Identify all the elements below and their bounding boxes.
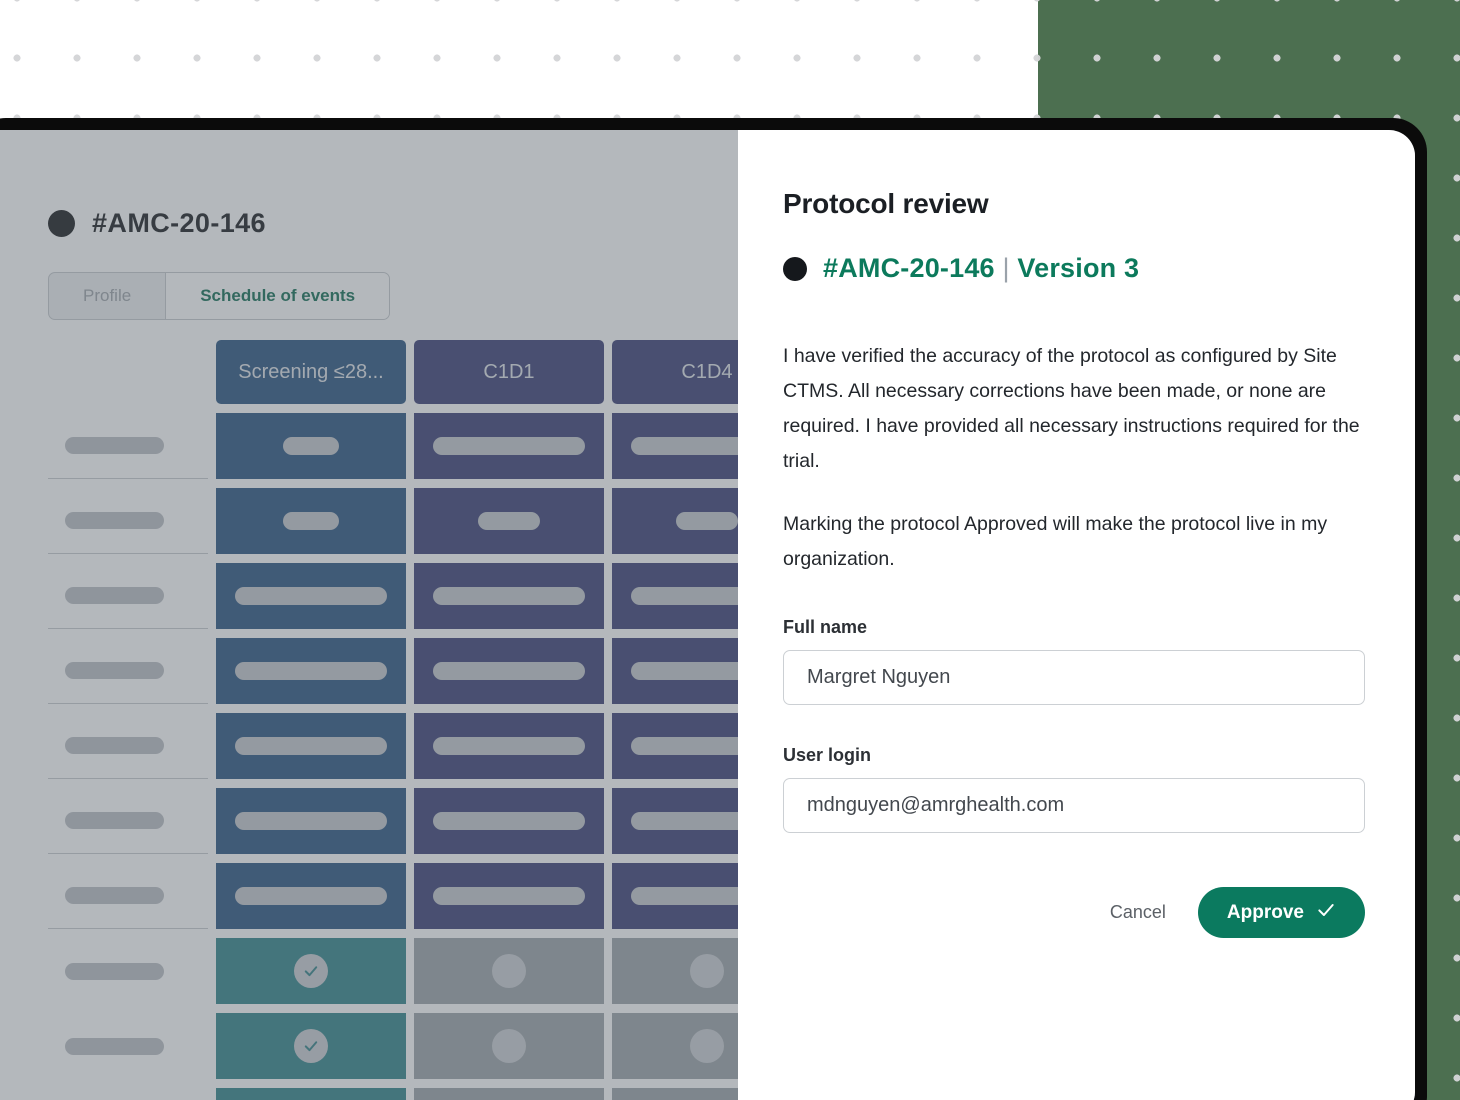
table-cell[interactable]: [414, 563, 604, 629]
row-label-placeholder: [65, 887, 164, 904]
row-label-cell: [48, 788, 208, 854]
row-label-placeholder: [65, 812, 164, 829]
cancel-button[interactable]: Cancel: [1096, 892, 1180, 933]
approve-button-label: Approve: [1227, 902, 1304, 924]
row-label-placeholder: [65, 587, 164, 604]
column-header-screening[interactable]: Screening ≤28...: [216, 340, 406, 404]
device-screen: #AMC-20-146 Profile Schedule of events S…: [0, 130, 1415, 1100]
table-row: [48, 638, 808, 704]
cell-value-placeholder: [433, 812, 585, 830]
table-cell[interactable]: [216, 863, 406, 929]
cell-value-placeholder: [235, 812, 387, 830]
user-login-label: User login: [783, 745, 1365, 766]
cell-value-placeholder: [433, 887, 585, 905]
cell-value-placeholder: [433, 662, 585, 680]
tab-schedule-of-events[interactable]: Schedule of events: [165, 273, 389, 319]
record-id-label: #AMC-20-146: [92, 208, 266, 239]
record-header: #AMC-20-146: [48, 208, 266, 239]
table-cell[interactable]: [216, 1013, 406, 1079]
header-corner-spacer: [48, 340, 208, 404]
full-name-label: Full name: [783, 617, 1365, 638]
table-cell[interactable]: [414, 1013, 604, 1079]
row-label-placeholder: [65, 1038, 164, 1055]
table-cell[interactable]: [216, 713, 406, 779]
row-label-cell: [48, 938, 208, 1004]
cell-value-placeholder: [433, 587, 585, 605]
column-header-c1d1[interactable]: C1D1: [414, 340, 604, 404]
table-header-row: Screening ≤28... C1D1 C1D4: [48, 340, 808, 404]
table-cell[interactable]: [216, 938, 406, 1004]
row-label-cell: [48, 1088, 208, 1100]
protocol-status-dot: [783, 257, 807, 281]
cell-value-placeholder: [478, 512, 540, 530]
table-cell[interactable]: [414, 1088, 604, 1100]
table-row: [48, 413, 808, 479]
table-cell[interactable]: [414, 938, 604, 1004]
panel-subtitle-divider: |: [1002, 253, 1009, 283]
row-label-placeholder: [65, 662, 164, 679]
table-row: [48, 713, 808, 779]
tab-profile[interactable]: Profile: [49, 273, 165, 319]
table-cell[interactable]: [414, 713, 604, 779]
schedule-of-events-table: Screening ≤28... C1D1 C1D4: [48, 340, 808, 1100]
table-cell[interactable]: [216, 638, 406, 704]
application-background: #AMC-20-146 Profile Schedule of events S…: [0, 130, 738, 1100]
table-cell[interactable]: [216, 563, 406, 629]
dot-grid-backdrop: [0, 0, 1038, 122]
table-cell[interactable]: [216, 413, 406, 479]
check-icon: [1316, 900, 1336, 926]
empty-circle-icon: [690, 1029, 724, 1063]
cell-value-placeholder: [235, 737, 387, 755]
cell-value-placeholder: [235, 587, 387, 605]
empty-circle-icon: [492, 954, 526, 988]
table-row: [48, 1088, 808, 1100]
table-cell[interactable]: [414, 863, 604, 929]
table-row: [48, 563, 808, 629]
panel-version: Version 3: [1017, 253, 1139, 283]
table-cell[interactable]: [414, 638, 604, 704]
table-cell[interactable]: [414, 413, 604, 479]
table-row: [48, 938, 808, 1004]
cell-value-placeholder: [433, 737, 585, 755]
table-cell[interactable]: [216, 488, 406, 554]
attestation-paragraph-1: I have verified the accuracy of the prot…: [783, 339, 1365, 479]
row-label-cell: [48, 713, 208, 779]
panel-title: Protocol review: [783, 188, 1365, 220]
attestation-paragraph-2: Marking the protocol Approved will make …: [783, 507, 1365, 577]
row-label-cell: [48, 638, 208, 704]
cell-value-placeholder: [235, 662, 387, 680]
full-name-input[interactable]: [783, 650, 1365, 705]
row-label-cell: [48, 488, 208, 554]
approve-button[interactable]: Approve: [1198, 887, 1365, 938]
tab-switcher[interactable]: Profile Schedule of events: [48, 272, 390, 320]
table-row: [48, 863, 808, 929]
cell-value-placeholder: [283, 437, 339, 455]
row-label-placeholder: [65, 737, 164, 754]
table-row: [48, 788, 808, 854]
panel-subtitle: #AMC-20-146 | Version 3: [783, 253, 1365, 284]
cell-value-placeholder: [433, 437, 585, 455]
row-label-cell: [48, 413, 208, 479]
empty-circle-icon: [690, 954, 724, 988]
screenshot-stage: #AMC-20-146 Profile Schedule of events S…: [0, 0, 1460, 1100]
panel-actions: Cancel Approve: [783, 887, 1365, 938]
table-cell[interactable]: [216, 788, 406, 854]
table-cell[interactable]: [414, 488, 604, 554]
check-circle-icon: [294, 954, 328, 988]
row-label-cell: [48, 863, 208, 929]
row-label-cell: [48, 563, 208, 629]
panel-subtitle-text: #AMC-20-146 | Version 3: [823, 253, 1139, 284]
cell-value-placeholder: [235, 887, 387, 905]
user-login-input[interactable]: [783, 778, 1365, 833]
table-body: [48, 413, 808, 1100]
table-row: [48, 1013, 808, 1079]
row-label-placeholder: [65, 512, 164, 529]
row-label-placeholder: [65, 963, 164, 980]
cell-value-placeholder: [676, 512, 738, 530]
row-label-placeholder: [65, 437, 164, 454]
table-row: [48, 488, 808, 554]
empty-circle-icon: [492, 1029, 526, 1063]
protocol-review-panel: Protocol review #AMC-20-146 | Version 3 …: [738, 130, 1415, 1100]
panel-subject-id: #AMC-20-146: [823, 253, 995, 283]
check-circle-icon: [294, 1029, 328, 1063]
cell-value-placeholder: [283, 512, 339, 530]
row-label-cell: [48, 1013, 208, 1079]
table-cell[interactable]: [216, 1088, 406, 1100]
record-status-dot: [48, 210, 75, 237]
table-cell[interactable]: [414, 788, 604, 854]
